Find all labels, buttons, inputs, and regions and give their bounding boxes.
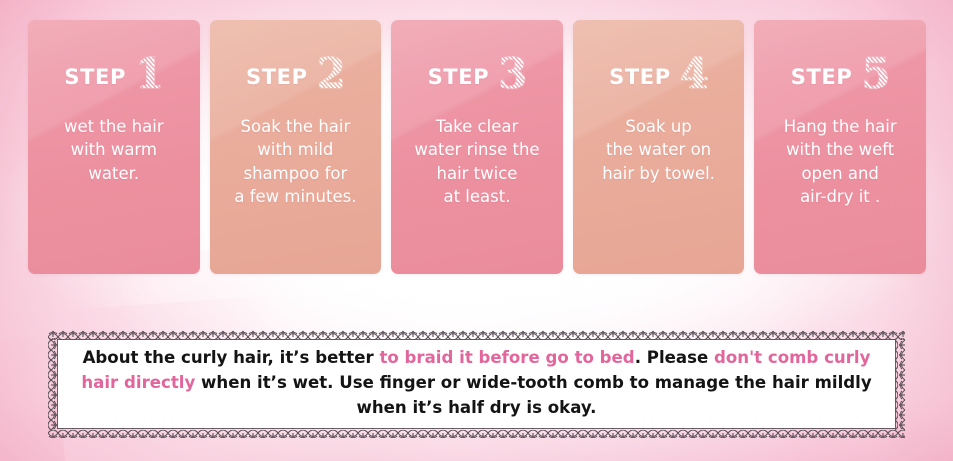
step-heading: STEP4: [573, 46, 745, 92]
step-heading: STEP3: [391, 46, 563, 92]
step-description-2: Soak the hair with mild shampoo for a fe…: [212, 115, 380, 209]
step-heading: STEP5: [754, 46, 926, 92]
note-box: About the curly hair, it’s better to bra…: [48, 330, 905, 438]
step-description-5: Hang the hair with the weft open and air…: [756, 115, 924, 209]
step-word-label: STEP: [428, 67, 490, 92]
step-card-2: STEP2Soak the hair with mild shampoo for…: [210, 20, 382, 274]
step-word-label: STEP: [246, 67, 308, 92]
step-word-label: STEP: [609, 67, 671, 92]
note-plain-text: About the curly hair, it’s better: [83, 348, 380, 367]
step-card-5: STEP5Hang the hair with the weft open an…: [754, 20, 926, 274]
step-card-4: STEP4Soak up the water on hair by towel.: [573, 20, 745, 274]
step-word-label: STEP: [64, 67, 126, 92]
step-number-1: 1: [135, 56, 163, 92]
step-number-3: 3: [498, 56, 526, 92]
step-description-4: Soak up the water on hair by towel.: [575, 115, 743, 185]
step-word-label: STEP: [791, 67, 853, 92]
note-text: About the curly hair, it’s better to bra…: [64, 346, 889, 421]
step-number-5: 5: [861, 56, 889, 92]
step-number-4: 4: [680, 56, 708, 92]
note-highlight-text: to braid it before go to bed: [379, 348, 634, 367]
note-plain-text: when it’s wet. Use finger or wide-tooth …: [195, 373, 871, 417]
step-number-2: 2: [317, 56, 345, 92]
infographic-page: STEP1wet the hair with warm water.STEP2S…: [0, 0, 953, 461]
note-plain-text: . Please: [635, 348, 714, 367]
steps-row: STEP1wet the hair with warm water.STEP2S…: [28, 20, 926, 274]
step-heading: STEP1: [28, 46, 200, 92]
step-description-3: Take clear water rinse the hair twice at…: [393, 115, 561, 209]
step-card-1: STEP1wet the hair with warm water.: [28, 20, 200, 274]
step-heading: STEP2: [210, 46, 382, 92]
step-description-1: wet the hair with warm water.: [30, 115, 198, 185]
step-card-3: STEP3Take clear water rinse the hair twi…: [391, 20, 563, 274]
